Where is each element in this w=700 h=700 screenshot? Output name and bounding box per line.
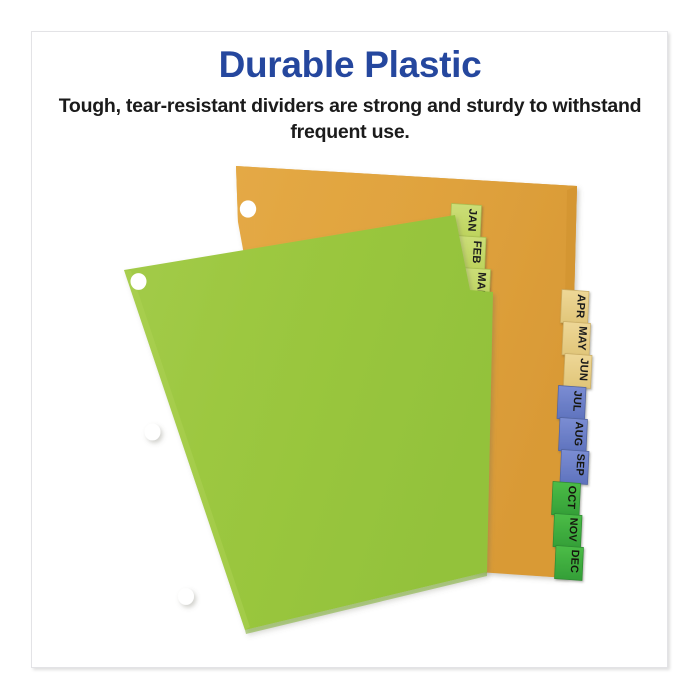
page-title: Durable Plastic — [50, 46, 650, 85]
tab-may[interactable]: MAY — [562, 322, 591, 357]
tab-aug-label: AUG — [572, 421, 585, 446]
tab-aug[interactable]: AUG — [559, 418, 588, 453]
tab-sep[interactable]: SEP — [560, 450, 589, 485]
image-content: JAN FEB MAR — [0, 0, 700, 700]
tab-nov-label: NOV — [566, 517, 579, 542]
tab-jul-label: JUL — [570, 390, 583, 412]
tab-nov[interactable]: NOV — [553, 514, 582, 549]
orange-divider-hole — [240, 200, 256, 217]
tab-dec-label: DEC — [568, 549, 581, 573]
tab-jan-label: JAN — [465, 208, 478, 232]
tab-jun[interactable]: JUN — [564, 354, 593, 389]
green-divider — [124, 215, 493, 634]
tab-apr[interactable]: APR — [561, 290, 590, 325]
tab-jun-label: JUN — [577, 358, 590, 382]
headline-block: Durable Plastic Tough, tear-resistant di… — [50, 46, 650, 145]
product-image: JAN FEB MAR — [0, 0, 700, 700]
tab-may-label: MAY — [575, 326, 588, 351]
green-divider-hole-bottom — [178, 588, 194, 605]
tab-jul[interactable]: JUL — [557, 386, 586, 421]
tab-set-oct-dec: OCT NOV DEC — [552, 482, 584, 581]
page-subtitle: Tough, tear-resistant dividers are stron… — [50, 94, 650, 145]
tab-sep-label: SEP — [573, 453, 586, 476]
green-divider-hole-top — [131, 273, 147, 290]
tab-set-apr-jun: APR MAY JUN — [561, 290, 593, 389]
tab-oct-label: OCT — [565, 485, 578, 509]
green-divider-hole-middle — [145, 424, 161, 441]
tab-apr-label: APR — [574, 294, 587, 319]
tab-dec[interactable]: DEC — [555, 546, 584, 581]
tab-feb-label: FEB — [470, 240, 483, 264]
tab-set-jul-sep: JUL AUG SEP — [557, 386, 589, 485]
tab-oct[interactable]: OCT — [552, 482, 581, 517]
